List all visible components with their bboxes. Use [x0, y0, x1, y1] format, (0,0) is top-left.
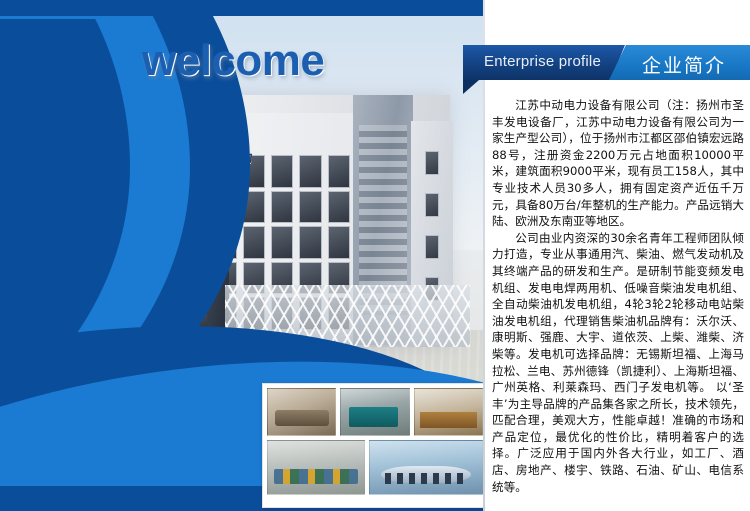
- photo-gallery-strip: 会议洽谈 发电机组 办公区 生产车间 会议室: [262, 383, 488, 508]
- top-accent-bar: [0, 16, 150, 19]
- boardroom-photo: 会议室: [369, 440, 483, 495]
- welcome-heading: welcome: [142, 36, 324, 86]
- ribbon-english-label: Enterprise profile: [484, 53, 601, 70]
- ribbon-chinese-label: 企业简介: [642, 51, 726, 78]
- profile-paragraph-2: 公司由业内资深的30余名青年工程师团队倾力打造，专业从事通用汽、柴油、燃气发动机…: [492, 230, 744, 496]
- company-profile-banner: 中动电力 江苏中动电力设备有限公司 Jiangsu Zhongdong Powe…: [0, 0, 750, 511]
- profile-body-text: 江苏中动电力设备有限公司（注：扬州市圣丰发电设备厂，江苏中动电力设备有限公司为一…: [492, 97, 744, 495]
- workshop-photo: 生产车间: [267, 440, 365, 495]
- section-header-ribbon: Enterprise profile 企业简介: [463, 45, 750, 80]
- generator-sets-photo: 发电机组: [340, 388, 409, 436]
- office-reception-photo: 办公区: [414, 388, 483, 436]
- meeting-room-photo: 会议洽谈: [267, 388, 336, 436]
- top-border-bar: [0, 0, 485, 16]
- gallery-row-bottom: 生产车间 会议室: [267, 440, 483, 495]
- gallery-row-top: 会议洽谈 发电机组 办公区: [267, 388, 483, 436]
- profile-paragraph-1: 江苏中动电力设备有限公司（注：扬州市圣丰发电设备厂，江苏中动电力设备有限公司为一…: [492, 97, 744, 230]
